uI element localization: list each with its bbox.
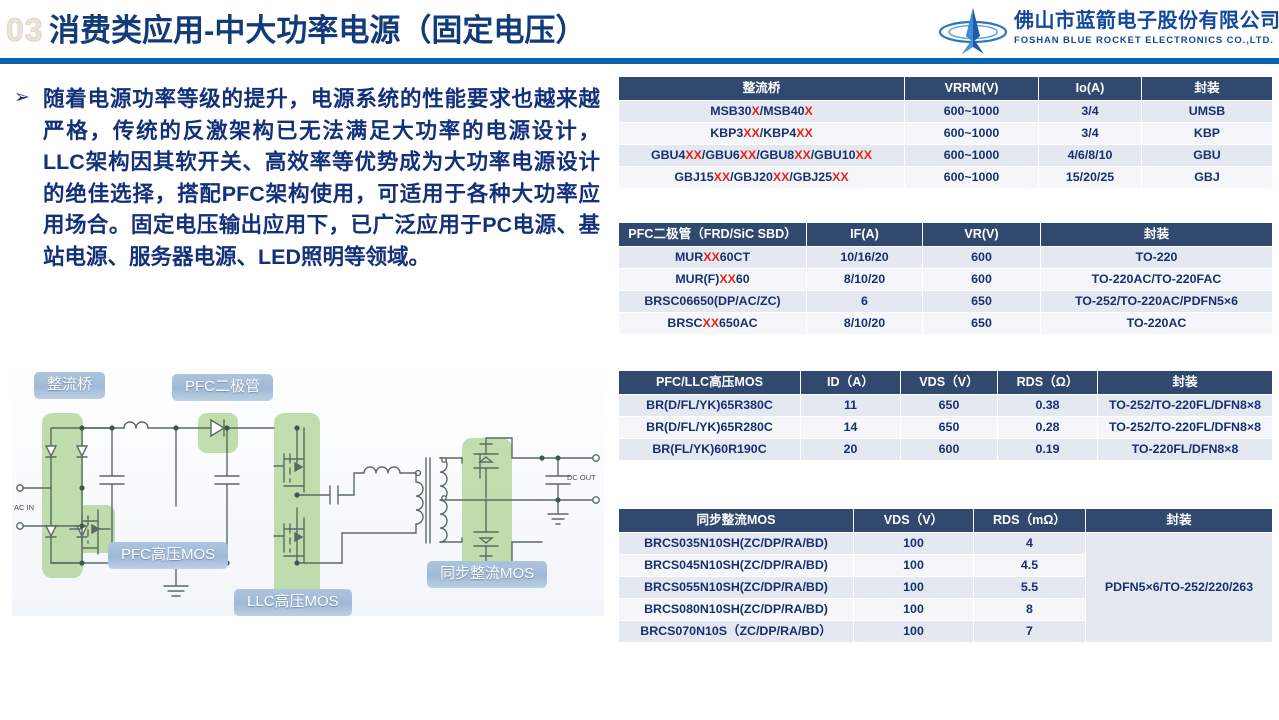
col-header: PFC/LLC高压MOS	[619, 371, 801, 395]
cell-part: BRCS070N10S（ZC/DP/RA/BD）	[619, 621, 854, 643]
col-header: 同步整流MOS	[619, 509, 854, 533]
dc-out-label: DC OUT	[567, 473, 596, 482]
cell-pkg: TO-252/TO-220FL/DFN8×8	[1098, 395, 1273, 417]
table-row: BR(D/FL/YK)65R280C 14 650 0.28 TO-252/TO…	[619, 417, 1273, 439]
sync-rect-mos-table: 同步整流MOS VDS（V） RDS（mΩ） 封装 BRCS035N10SH(Z…	[618, 508, 1273, 643]
table-row: GBU4XX/GBU6XX/GBU8XX/GBU10XX 600~1000 4/…	[619, 145, 1273, 167]
cell-pkg: TO-220AC	[1041, 313, 1273, 335]
cell-vds: 100	[854, 599, 974, 621]
cell-part: MURXX60CT	[619, 247, 807, 269]
blue-rocket-logo-icon	[936, 6, 1010, 56]
cell-id: 14	[801, 417, 901, 439]
cell-pkg: GBU	[1142, 145, 1273, 167]
col-header: 封装	[1098, 371, 1273, 395]
cell-part: BRCS080N10SH(ZC/DP/RA/BD)	[619, 599, 854, 621]
cell-rds: 4	[974, 533, 1086, 555]
col-header: RDS（mΩ）	[974, 509, 1086, 533]
col-header: IF(A)	[807, 223, 923, 247]
cell-id: 20	[801, 439, 901, 461]
cell-part: BRCS035N10SH(ZC/DP/RA/BD)	[619, 533, 854, 555]
cell-rds: 5.5	[974, 577, 1086, 599]
cell-vr: 650	[923, 291, 1041, 313]
bullet-arrow-icon: ➢	[14, 87, 30, 109]
table-header-row: 整流桥 VRRM(V) Io(A) 封装	[619, 77, 1273, 101]
cell-vr: 600	[923, 247, 1041, 269]
intro-paragraph: 随着电源功率等级的提升，电源系统的性能要求也越来越严格，传统的反激架构已无法满足…	[43, 84, 600, 273]
power-supply-circuit-diagram: AC IN DC OUT 整流桥 PFC二极管 PFC高压MOS LLC高压MO…	[12, 358, 604, 616]
slide-header: 03 消费类应用-中大功率电源（固定电压） 佛山市蓝箭电子股份有限公司 FOSH…	[0, 0, 1279, 62]
company-name-cn: 佛山市蓝箭电子股份有限公司	[1014, 9, 1276, 33]
table-row: BRCS035N10SH(ZC/DP/RA/BD) 100 4 PDFN5×6/…	[619, 533, 1273, 555]
cell-pkg: TO-252/TO-220AC/PDFN5×6	[1041, 291, 1273, 313]
company-logo: 佛山市蓝箭电子股份有限公司 FOSHAN BLUE ROCKET ELECTRO…	[936, 6, 1276, 56]
table-row: BR(D/FL/YK)65R380C 11 650 0.38 TO-252/TO…	[619, 395, 1273, 417]
label-pfc-hv-mos: PFC高压MOS	[108, 542, 228, 569]
cell-part: BR(D/FL/YK)65R380C	[619, 395, 801, 417]
cell-rds: 0.28	[998, 417, 1098, 439]
cell-pkg: TO-220FL/DFN8×8	[1098, 439, 1273, 461]
cell-pkg: UMSB	[1142, 101, 1273, 123]
cell-pkg: GBJ	[1142, 167, 1273, 189]
table-row: BR(FL/YK)60R190C 20 600 0.19 TO-220FL/DF…	[619, 439, 1273, 461]
company-name-en: FOSHAN BLUE ROCKET ELECTRONICS CO.,LTD.	[1014, 34, 1276, 48]
cell-if: 10/16/20	[807, 247, 923, 269]
col-header: 封装	[1142, 77, 1273, 101]
table-row: MUR(F)XX60 8/10/20 600 TO-220AC/TO-220FA…	[619, 269, 1273, 291]
col-header: ID（A）	[801, 371, 901, 395]
cell-vrrm: 600~1000	[905, 145, 1039, 167]
table-header-row: 同步整流MOS VDS（V） RDS（mΩ） 封装	[619, 509, 1273, 533]
col-header: VDS（V）	[901, 371, 998, 395]
cell-part: BR(D/FL/YK)65R280C	[619, 417, 801, 439]
intro-bullet: ➢ 随着电源功率等级的提升，电源系统的性能要求也越来越严格，传统的反激架构已无法…	[14, 84, 600, 273]
cell-vds: 100	[854, 533, 974, 555]
col-header: VDS（V）	[854, 509, 974, 533]
cell-rds: 7	[974, 621, 1086, 643]
table-row: MSB30X/MSB40X 600~1000 3/4 UMSB	[619, 101, 1273, 123]
col-header: Io(A)	[1039, 77, 1142, 101]
pfc-llc-hv-mos-table: PFC/LLC高压MOS ID（A） VDS（V） RDS（Ω） 封装 BR(D…	[618, 370, 1273, 461]
cell-pkg: TO-252/TO-220FL/DFN8×8	[1098, 417, 1273, 439]
cell-io: 4/6/8/10	[1039, 145, 1142, 167]
cell-rds: 0.19	[998, 439, 1098, 461]
cell-pkg: TO-220	[1041, 247, 1273, 269]
cell-vds: 600	[901, 439, 998, 461]
label-sync-rect-mos: 同步整流MOS	[427, 561, 547, 588]
col-header: PFC二极管（FRD/SiC SBD）	[619, 223, 807, 247]
cell-pkg-merged: PDFN5×6/TO-252/220/263	[1086, 533, 1273, 643]
cell-if: 6	[807, 291, 923, 313]
cell-rds: 0.38	[998, 395, 1098, 417]
cell-vds: 100	[854, 555, 974, 577]
table-row: KBP3XX/KBP4XX 600~1000 3/4 KBP	[619, 123, 1273, 145]
cell-io: 15/20/25	[1039, 167, 1142, 189]
cell-vrrm: 600~1000	[905, 123, 1039, 145]
cell-part: BRCS045N10SH(ZC/DP/RA/BD)	[619, 555, 854, 577]
col-header: 封装	[1041, 223, 1273, 247]
cell-part: MUR(F)XX60	[619, 269, 807, 291]
cell-vrrm: 600~1000	[905, 101, 1039, 123]
pfc-diode-table: PFC二极管（FRD/SiC SBD） IF(A) VR(V) 封装 MURXX…	[618, 222, 1273, 335]
cell-vds: 100	[854, 621, 974, 643]
cell-vds: 650	[901, 417, 998, 439]
cell-part: BRSC06650(DP/AC/ZC)	[619, 291, 807, 313]
cell-part: BRSCXX650AC	[619, 313, 807, 335]
cell-id: 11	[801, 395, 901, 417]
cell-rds: 4.5	[974, 555, 1086, 577]
cell-part: BRCS055N10SH(ZC/DP/RA/BD)	[619, 577, 854, 599]
col-header: VRRM(V)	[905, 77, 1039, 101]
table-row: GBJ15XX/GBJ20XX/GBJ25XX 600~1000 15/20/2…	[619, 167, 1273, 189]
label-pfc-diode: PFC二极管	[172, 374, 273, 401]
cell-part: GBJ15XX/GBJ20XX/GBJ25XX	[619, 167, 905, 189]
cell-part: MSB30X/MSB40X	[619, 101, 905, 123]
label-rectifier-bridge: 整流桥	[34, 372, 105, 399]
rectifier-bridge-table: 整流桥 VRRM(V) Io(A) 封装 MSB30X/MSB40X 600~1…	[618, 76, 1273, 189]
cell-vr: 650	[923, 313, 1041, 335]
cell-io: 3/4	[1039, 123, 1142, 145]
table-row: BRSC06650(DP/AC/ZC) 6 650 TO-252/TO-220A…	[619, 291, 1273, 313]
cell-io: 3/4	[1039, 101, 1142, 123]
cell-vds: 100	[854, 577, 974, 599]
cell-part: GBU4XX/GBU6XX/GBU8XX/GBU10XX	[619, 145, 905, 167]
label-llc-hv-mos: LLC高压MOS	[234, 589, 352, 616]
cell-vds: 650	[901, 395, 998, 417]
table-row: BRSCXX650AC 8/10/20 650 TO-220AC	[619, 313, 1273, 335]
col-header: 整流桥	[619, 77, 905, 101]
table-row: MURXX60CT 10/16/20 600 TO-220	[619, 247, 1273, 269]
col-header: 封装	[1086, 509, 1273, 533]
table-header-row: PFC/LLC高压MOS ID（A） VDS（V） RDS（Ω） 封装	[619, 371, 1273, 395]
cell-if: 8/10/20	[807, 269, 923, 291]
slide-number: 03	[6, 13, 44, 47]
cell-vrrm: 600~1000	[905, 167, 1039, 189]
col-header: VR(V)	[923, 223, 1041, 247]
logo-text-block: 佛山市蓝箭电子股份有限公司 FOSHAN BLUE ROCKET ELECTRO…	[1014, 9, 1276, 48]
left-content-pane: ➢ 随着电源功率等级的提升，电源系统的性能要求也越来越严格，传统的反激架构已无法…	[0, 64, 614, 720]
ac-in-label: AC IN	[14, 503, 34, 512]
page-title: 消费类应用-中大功率电源（固定电压）	[49, 11, 586, 51]
cell-part: BR(FL/YK)60R190C	[619, 439, 801, 461]
table-header-row: PFC二极管（FRD/SiC SBD） IF(A) VR(V) 封装	[619, 223, 1273, 247]
cell-if: 8/10/20	[807, 313, 923, 335]
cell-pkg: KBP	[1142, 123, 1273, 145]
col-header: RDS（Ω）	[998, 371, 1098, 395]
cell-rds: 8	[974, 599, 1086, 621]
cell-pkg: TO-220AC/TO-220FAC	[1041, 269, 1273, 291]
cell-part: KBP3XX/KBP4XX	[619, 123, 905, 145]
cell-vr: 600	[923, 269, 1041, 291]
